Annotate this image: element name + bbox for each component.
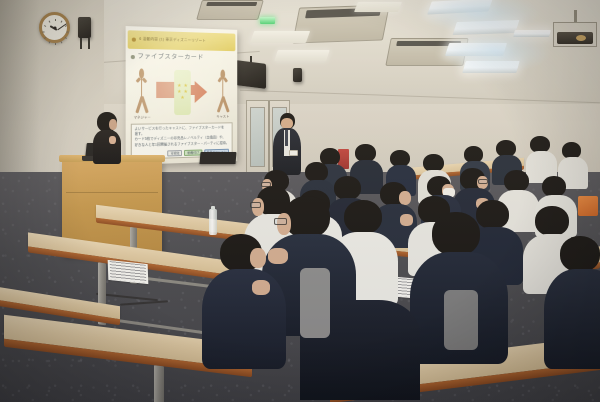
hands xyxy=(252,280,270,295)
head xyxy=(432,212,480,256)
clock-tick xyxy=(66,32,68,33)
figure-manager: マネジャー xyxy=(134,67,150,118)
presenter-hand xyxy=(109,136,116,144)
ceiling-light-2 xyxy=(452,20,519,35)
wall-clock xyxy=(39,12,70,43)
paper-text-lines xyxy=(110,261,147,283)
seated-legs xyxy=(300,268,330,338)
projector-lens xyxy=(576,35,586,41)
head xyxy=(560,236,600,272)
figure-arm-right xyxy=(224,77,229,83)
ceiling-light-4 xyxy=(462,61,519,73)
lecture-hall-photo: 6 活動内容 (1) 東京ディズニーリゾート ファイブスターカード マネジャー xyxy=(0,0,600,402)
ceiling-light-6 xyxy=(274,50,330,61)
wall-device xyxy=(293,68,302,82)
figure-cast: キャスト xyxy=(216,68,230,117)
projector-body xyxy=(557,32,592,44)
presenter-body xyxy=(93,130,121,164)
ceiling-light-7 xyxy=(354,2,402,12)
desk-leg xyxy=(154,365,164,402)
slide-header-band: 6 活動内容 (1) 東京ディズニーリゾート xyxy=(128,30,235,51)
arrow-head-icon xyxy=(195,81,207,103)
ceiling-projector xyxy=(553,22,597,47)
presenter-face xyxy=(109,119,117,130)
figure-torso xyxy=(222,79,223,98)
torso-navy-suit xyxy=(202,269,286,369)
slide-header-text: 6 活動内容 (1) 東京ディズニーリゾート xyxy=(139,37,206,44)
face xyxy=(250,248,266,268)
head xyxy=(542,176,566,197)
figure-manager-label: マネジャー xyxy=(134,114,150,119)
bottle-cap xyxy=(211,206,215,210)
clock-tick xyxy=(55,19,56,21)
audience-member-foreground xyxy=(210,234,272,366)
presenter-at-podium xyxy=(92,112,126,164)
clock-tick xyxy=(60,20,62,22)
wall-speaker-right xyxy=(236,60,266,89)
bottle-body xyxy=(209,209,217,235)
clock-center-pin xyxy=(53,26,56,29)
torso-navy-suit xyxy=(544,269,600,369)
slide-illustration: マネジャー ★ ★ ★ ★ ★ xyxy=(132,65,232,120)
standing-staff-with-badge xyxy=(272,113,302,175)
slide-title-text: ファイブスターカード xyxy=(138,53,204,61)
seated-legs xyxy=(444,290,478,350)
ac-vent-3 xyxy=(196,0,264,20)
face xyxy=(399,191,411,205)
water-bottle[interactable] xyxy=(209,209,217,235)
header-bullet-icon xyxy=(132,37,136,41)
slide-title: ファイブスターカード xyxy=(130,51,203,62)
clock-tick xyxy=(48,20,50,22)
slide-surface: 6 活動内容 (1) 東京ディズニーリゾート ファイブスターカード マネジャー xyxy=(126,26,238,165)
figure-arm-right xyxy=(142,77,147,83)
lectern-seam xyxy=(66,192,158,193)
figure-leg-right xyxy=(222,96,230,113)
exit-sign xyxy=(260,17,275,24)
door-window-left xyxy=(250,107,265,167)
staff-name-badge xyxy=(289,150,298,156)
eyeglasses xyxy=(478,179,488,184)
clock-tick xyxy=(43,37,45,39)
clock-face xyxy=(44,17,65,38)
ceiling-light-8 xyxy=(513,30,551,37)
slide-body-line: 好きな人と年1回開催されるファイブスター・パーティに招待。 xyxy=(134,141,229,148)
figure-leg-right xyxy=(141,96,149,113)
door-center-gap xyxy=(268,101,270,181)
clock-tick xyxy=(55,43,56,45)
ceiling-light-3 xyxy=(445,43,507,56)
title-bullet-icon xyxy=(130,55,134,59)
speaker-bracket-right xyxy=(88,38,90,49)
ceiling-light-5 xyxy=(250,31,310,43)
wall-speaker-left xyxy=(78,17,91,38)
audience-member-foreground xyxy=(552,236,600,366)
speaker-bracket-left xyxy=(80,38,82,49)
head xyxy=(504,170,529,192)
paper-on-desk[interactable] xyxy=(108,260,149,284)
eyeglasses xyxy=(274,218,287,225)
head xyxy=(284,196,330,238)
eyeglasses xyxy=(250,202,261,208)
secondary-laptop[interactable] xyxy=(199,152,236,164)
five-star-card: ★ ★ ★ ★ ★ xyxy=(174,70,191,116)
clock-tick xyxy=(43,25,45,27)
head xyxy=(344,200,382,234)
slide-tag: 可視化 xyxy=(168,150,183,156)
head xyxy=(535,206,569,236)
orange-bag xyxy=(578,196,598,216)
head xyxy=(305,162,328,182)
figure-cast-label: キャスト xyxy=(216,113,230,118)
projection-screen: 6 活動内容 (1) 東京ディズニーリゾート ファイブスターカード マネジャー xyxy=(126,26,238,165)
staff-necktie xyxy=(285,130,288,146)
clock-tick xyxy=(64,37,66,39)
star-icon: ★ xyxy=(180,96,184,101)
clock-tick xyxy=(42,32,44,33)
